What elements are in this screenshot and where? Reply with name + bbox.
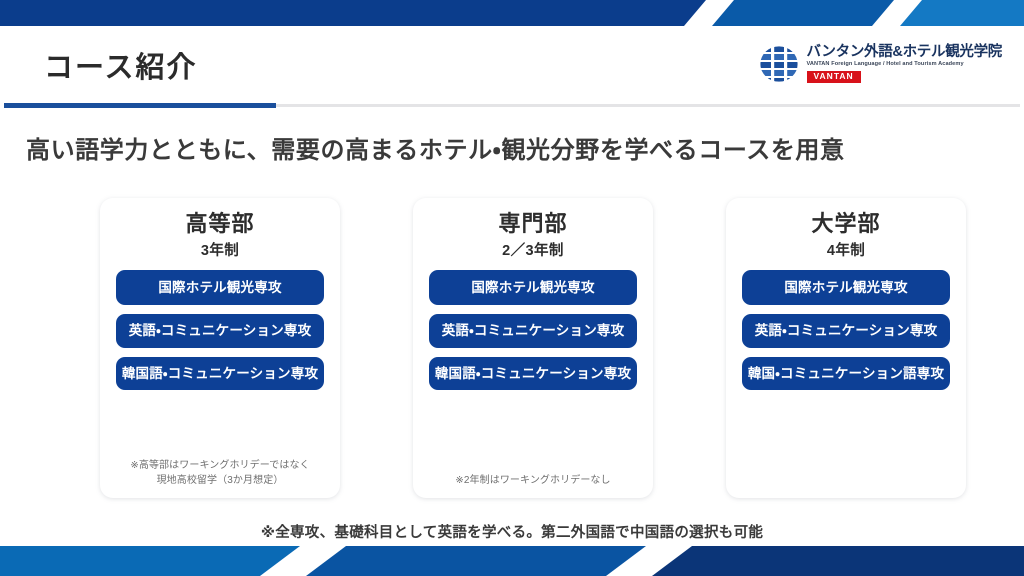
banner-band-mid bbox=[306, 546, 646, 576]
card-title: 大学部 bbox=[811, 210, 880, 238]
vantan-globe-icon bbox=[758, 44, 800, 84]
card-note: ※高等部はワーキングホリデーではなく 現地高校留学（3か月想定） bbox=[130, 447, 309, 488]
course-pill[interactable]: 英語・コミュニケーション専攻 bbox=[116, 314, 324, 348]
banner-band-light bbox=[0, 546, 300, 576]
course-card-senmonbu: 専門部 2／3年制 国際ホテル観光専攻 英語・コミュニケーション専攻 韓国語・コ… bbox=[413, 198, 653, 498]
course-pill[interactable]: 韓国語・コミュニケーション専攻 bbox=[116, 357, 324, 391]
course-pill[interactable]: 韓国語・コミュニケーション専攻 bbox=[429, 357, 637, 391]
logo-name-jp: バンタン外語&ホテル観光学院 bbox=[807, 45, 1003, 60]
course-pill[interactable]: 英語・コミュニケーション専攻 bbox=[429, 314, 637, 348]
card-years: 3年制 bbox=[201, 239, 239, 260]
card-years: 2／3年制 bbox=[502, 239, 564, 260]
course-card-koutoubu: 高等部 3年制 国際ホテル観光専攻 英語・コミュニケーション専攻 韓国語・コミュ… bbox=[100, 198, 340, 498]
course-pill-list: 国際ホテル観光専攻 英語・コミュニケーション専攻 韓国・コミュニケーション語専攻 bbox=[742, 270, 950, 391]
banner-band-mid bbox=[712, 0, 894, 26]
course-pill[interactable]: 国際ホテル観光専攻 bbox=[116, 270, 324, 306]
lead-headline: 高い語学力とともに、需要の高まるホテル・観光分野を学べるコースを用意 bbox=[26, 130, 845, 165]
logo-name-en: VANTAN Foreign Language / Hotel and Tour… bbox=[807, 62, 964, 68]
course-columns: 高等部 3年制 国際ホテル観光専攻 英語・コミュニケーション専攻 韓国語・コミュ… bbox=[100, 198, 966, 498]
bottom-decorative-banner bbox=[0, 546, 1024, 576]
header-divider-accent bbox=[4, 103, 276, 108]
top-decorative-banner bbox=[0, 0, 1024, 26]
logo-text-group: バンタン外語&ホテル観光学院 VANTAN Foreign Language /… bbox=[807, 45, 1003, 82]
logo-badge: VANTAN bbox=[807, 71, 861, 83]
course-pill[interactable]: 国際ホテル観光専攻 bbox=[429, 270, 637, 306]
card-note: ※2年制はワーキングホリデーなし bbox=[455, 462, 610, 489]
slide-canvas: コース紹介 バンタン外語&ホテル観光学院 VANTAN Fo bbox=[0, 0, 1024, 576]
card-title: 専門部 bbox=[498, 210, 567, 238]
course-pill[interactable]: 韓国・コミュニケーション語専攻 bbox=[742, 357, 950, 391]
course-card-daigakubu: 大学部 4年制 国際ホテル観光専攻 英語・コミュニケーション専攻 韓国・コミュニ… bbox=[726, 198, 966, 498]
banner-band-light bbox=[900, 0, 1024, 26]
footer-note: ※全専攻、基礎科目として英語を学べる。第二外国語で中国語の選択も可能 bbox=[0, 521, 1024, 542]
banner-band-navy bbox=[0, 0, 706, 26]
course-pill[interactable]: 英語・コミュニケーション専攻 bbox=[742, 314, 950, 348]
page-title: コース紹介 bbox=[44, 53, 198, 85]
course-pill-list: 国際ホテル観光専攻 英語・コミュニケーション専攻 韓国語・コミュニケーション専攻 bbox=[429, 270, 637, 391]
brand-logo: バンタン外語&ホテル観光学院 VANTAN Foreign Language /… bbox=[758, 44, 1003, 84]
card-title: 高等部 bbox=[185, 210, 254, 238]
course-pill-list: 国際ホテル観光専攻 英語・コミュニケーション専攻 韓国語・コミュニケーション専攻 bbox=[116, 270, 324, 391]
card-years: 4年制 bbox=[827, 239, 865, 260]
course-pill[interactable]: 国際ホテル観光専攻 bbox=[742, 270, 950, 306]
banner-band-navy bbox=[652, 546, 1024, 576]
